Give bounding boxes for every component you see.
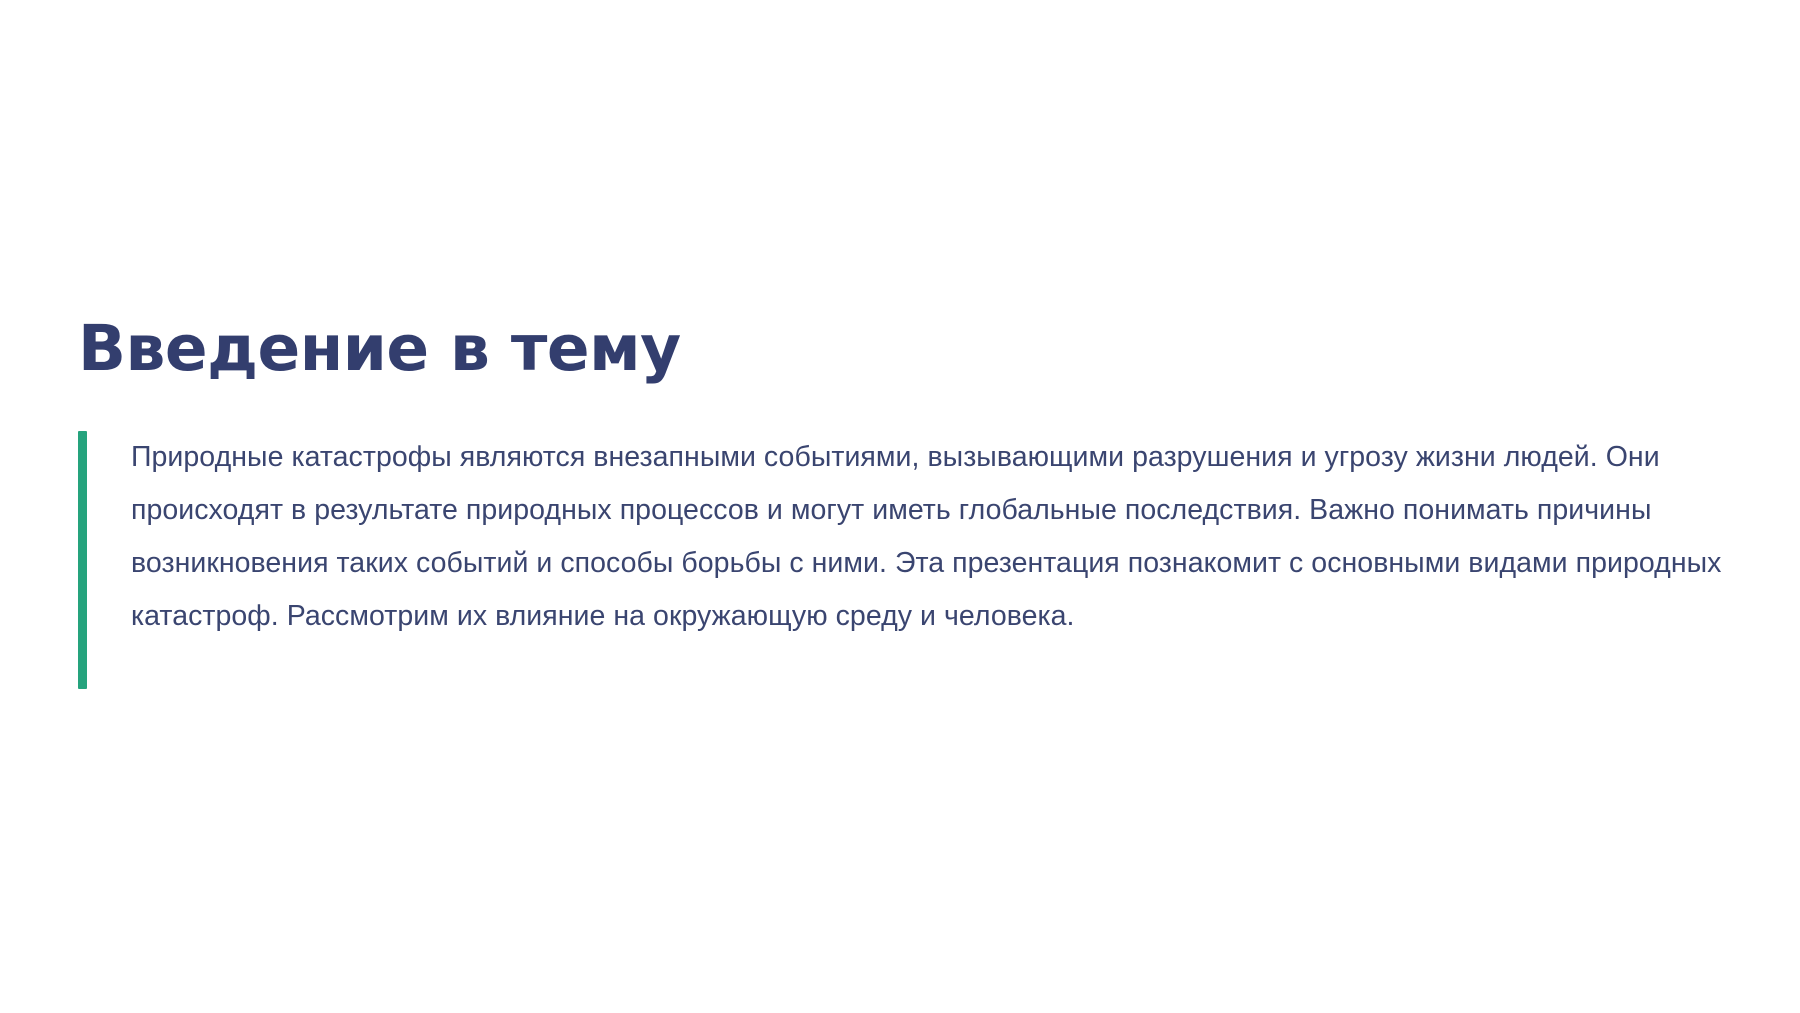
- page-title: Введение в тему: [78, 316, 1738, 383]
- accent-bar: [78, 431, 87, 689]
- body-paragraph: Природные катастрофы являются внезапными…: [131, 431, 1731, 643]
- presentation-slide: Введение в тему Природные катастрофы явл…: [0, 0, 1800, 1013]
- body-text-block: Природные катастрофы являются внезапными…: [78, 431, 1738, 689]
- slide-content-area: Введение в тему Природные катастрофы явл…: [78, 316, 1738, 689]
